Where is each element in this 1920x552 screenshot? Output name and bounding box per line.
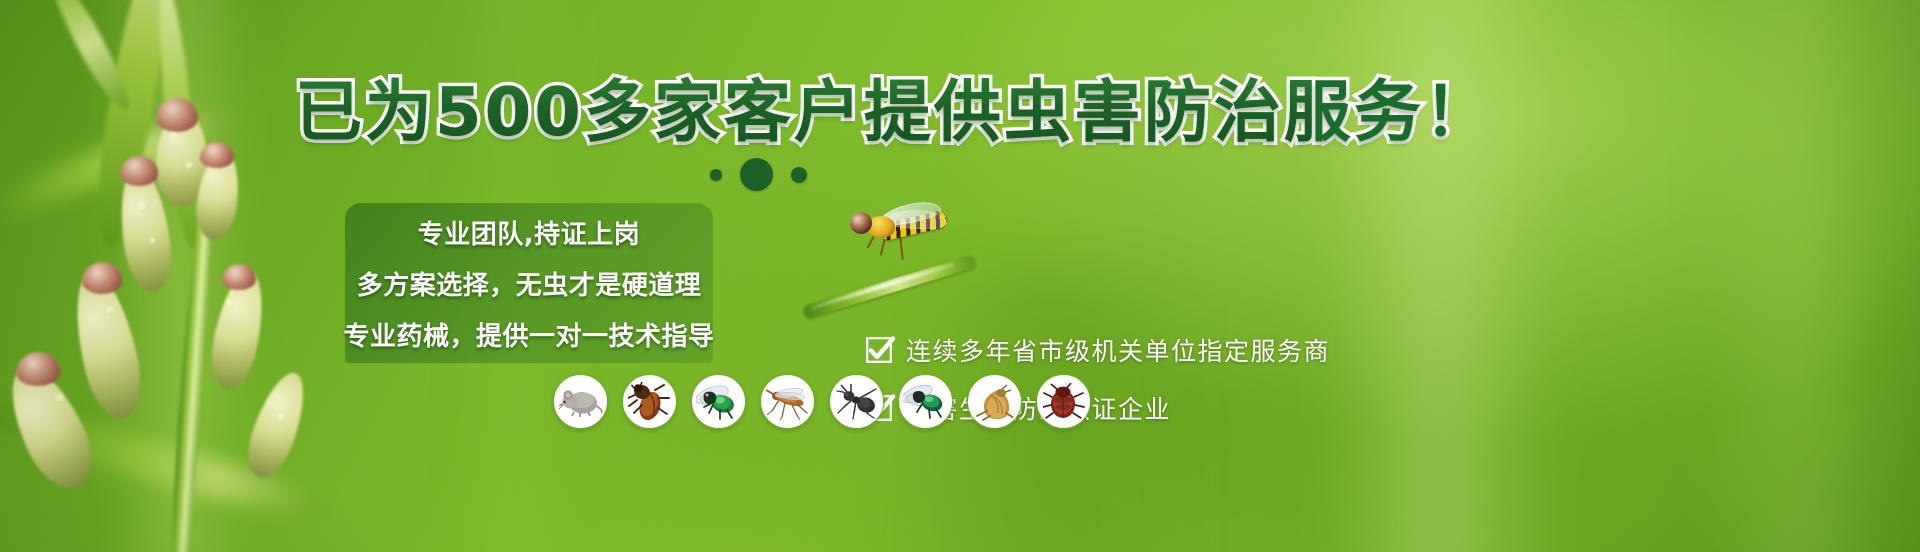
panel-line-3: 专业药械，提供一对一技术指导 (344, 316, 715, 353)
dot-medium-icon (791, 167, 807, 183)
checkbox-checked-icon (866, 337, 892, 363)
fly-icon[interactable] (899, 375, 952, 428)
list-item: 连续多年省市级机关单位指定服务商 (866, 332, 1330, 368)
pest-control-hero-banner: 已为500多家客户提供虫害防治服务！ 已为500多家客户提供虫害防治服务！ 专业… (0, 0, 1920, 552)
page-title: 已为500多家客户提供虫害防治服务！ (295, 74, 1315, 150)
mosquito-icon[interactable] (761, 375, 814, 428)
mouse-icon[interactable] (554, 375, 607, 428)
hoverfly-icon (845, 200, 951, 256)
bedbug-icon[interactable] (1037, 375, 1090, 428)
pest-types-icon-row (554, 375, 1090, 428)
dot-large-icon (740, 158, 773, 191)
flea-icon[interactable] (968, 375, 1021, 428)
selling-points-panel: 专业团队,持证上岗 多方案选择，无虫才是硬道理 专业药械，提供一对一技术指导 (345, 203, 713, 363)
panel-line-2: 多方案选择，无虫才是硬道理 (357, 265, 702, 302)
cockroach-icon[interactable] (623, 375, 676, 428)
ant-icon[interactable] (830, 375, 883, 428)
decorative-dots (710, 158, 807, 191)
panel-line-1: 专业团队,持证上岗 (418, 214, 640, 251)
green-bottle-fly-icon[interactable] (692, 375, 745, 428)
list-item-label: 连续多年省市级机关单位指定服务商 (906, 332, 1330, 368)
dot-small-icon (710, 169, 722, 181)
